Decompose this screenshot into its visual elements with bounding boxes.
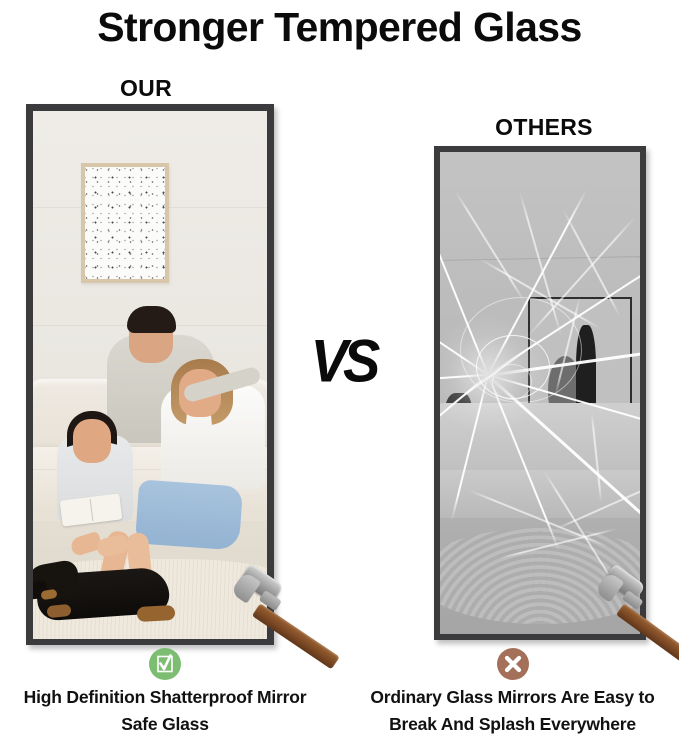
page-title: Stronger Tempered Glass [0, 2, 679, 52]
hammer-icon-right [594, 560, 679, 655]
impact-ring [492, 364, 532, 400]
caption-others: Ordinary Glass Mirrors Are Easy to Break… [346, 648, 679, 738]
caption-line: Safe Glass [0, 711, 330, 738]
caption-line: Break And Splash Everywhere [346, 711, 679, 738]
caption-line: High Definition Shatterproof Mirror [0, 684, 330, 711]
dog-paw [137, 605, 176, 622]
person-man-hair [127, 306, 176, 333]
hammer-icon-left [232, 556, 332, 656]
person-woman-jeans [135, 479, 243, 550]
person-girl-head [73, 419, 111, 463]
x-circle-icon [497, 648, 529, 680]
panel-label-our: OUR [76, 75, 216, 102]
caption-our-text: High Definition Shatterproof Mirror Safe… [0, 684, 330, 738]
panel-label-others: OTHERS [474, 114, 614, 141]
caption-line: Ordinary Glass Mirrors Are Easy to [346, 684, 679, 711]
check-circle-icon [149, 648, 181, 680]
versus-label: VS [301, 328, 385, 395]
caption-others-text: Ordinary Glass Mirrors Are Easy to Break… [346, 684, 679, 738]
versus-badge: VS [301, 330, 385, 392]
caption-our: High Definition Shatterproof Mirror Safe… [0, 648, 330, 738]
framed-artwork [81, 163, 169, 283]
artwork-speckles [85, 167, 165, 279]
